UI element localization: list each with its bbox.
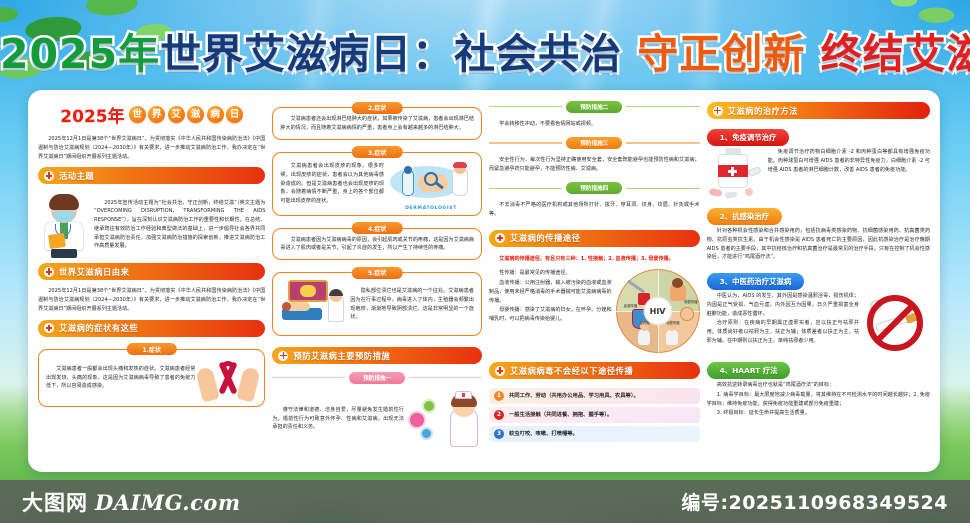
year-label: 2025年 xyxy=(60,102,124,127)
prevention-measure-2-label: 预防措施二 xyxy=(566,101,622,113)
treatment-4-text-1: 高效抗逆转录病毒治疗也就是“鸡尾酒疗法”的目标： xyxy=(707,381,930,390)
treatment-1-header: 1、免疫调节治疗 xyxy=(707,129,790,146)
treatment-2-block: 2、抗感染治疗 针对各种机会性感染和合并感染用药，包括抗病毒类感染药物、抗细菌感… xyxy=(707,203,930,263)
symptom-5-row: 隐私部位溃烂也是艾滋病的一个征兆。艾滋病患者因为在行事过程中，病毒进入了体内，生… xyxy=(280,280,474,330)
symptom-1-row: 艾滋病患者一般都会出现头痛和发热的症状。艾滋病患者经常出现发烧、头痛的现象，这是… xyxy=(46,357,257,401)
prevention-measure-4-text: 不去消毒不严格的医疗机构或其他场所打针、拔牙、穿耳洞、纹身、纹眉、针灸或手术等。 xyxy=(489,201,700,219)
wheel-tag-3: 母婴传播 xyxy=(666,320,680,325)
watermark-domain: DAIMG.com xyxy=(95,490,241,515)
section-header-treatment: 艾滋病的治疗方法 xyxy=(707,102,930,119)
gynecology-exam-illustration-icon xyxy=(280,280,346,330)
treatment-3-text-1: 中医认为，AIDS 的发生，其外因是感染温邪淫毒，损伤机体；内因是正气受损、气血… xyxy=(707,292,859,318)
chip-3: 滋 xyxy=(187,106,204,123)
watermark-code: 编号:2025110968349524 xyxy=(681,488,948,515)
world-aids-day-chips: 世 界 艾 滋 病 日 xyxy=(129,106,244,123)
section-title-routes: 艾滋病的传播途径 xyxy=(510,232,580,244)
treatment-1-block: 1、免疫调节治疗 免疫调节治疗药物白细胞介素 -2 和丙种蛋白等都具有增强免疫功… xyxy=(707,124,930,198)
chip-4: 病 xyxy=(207,106,224,123)
column-transmission: 预防措施二 学会转移性冲动，不要看色情网站或视频。 预防措施三 安全性行为，每次… xyxy=(489,98,700,464)
section-title-not-routes: 艾滋病病毒不会经以下途径传播 xyxy=(510,365,633,377)
year-heading: 2025年 世 界 艾 滋 病 日 xyxy=(38,98,265,130)
list-item: 2 一般生活接触（共同进餐、拥抱、握手等）。 xyxy=(489,407,700,423)
origin-paragraph: 2025年12月1日是第38个“世界艾滋病日”。为贯彻落实《中华人民共和国传染病… xyxy=(38,287,265,314)
divider-line-left xyxy=(489,106,562,107)
chip-5: 日 xyxy=(226,106,243,123)
section-header-activity-theme: 活动主题 xyxy=(38,167,265,184)
symptom-1-text: 艾滋病患者一般都会出现头痛和发热的症状。艾滋病患者经常出现发烧、头痛的现象，这是… xyxy=(46,365,195,391)
symptom-5-tab: 5.症状 xyxy=(352,267,402,279)
transmission-wheel-illustration: 血液传播 母婴传播 性传播 母婴传播 HIV xyxy=(616,269,700,353)
treatment-4-text-wrap: 高效抗逆转录病毒治疗也就是“鸡尾酒疗法”的目标： 1. 病毒学目标：最大限度地减… xyxy=(707,381,930,418)
routes-lead-wrap: 艾滋病的传播途径，有且只有三种：1. 性接触；2. 血液传播；3. 母婴传播。 xyxy=(489,255,700,265)
origin-text: 2025年12月1日是第38个“世界艾滋病日”。为贯彻落实《中华人民共和国传染病… xyxy=(38,287,265,313)
prevention-measure-2-header: 预防措施二 xyxy=(489,101,700,113)
column-treatment: 艾滋病的治疗方法 1、免疫调节治疗 免疫调节治疗药物白细胞介素 -2 和丙种蛋白… xyxy=(707,98,930,464)
symptom-4-text-wrap: 艾滋病患者因为艾滋病病毒的原因，会引起肌肉或关节的疼痛，这是因为艾滋病病毒进入了… xyxy=(280,236,474,254)
routes-detail-row: 性传播：是最常见的传播途径。 血液传播：公用注射器，输入被污染的血液或血液制品，… xyxy=(489,269,700,353)
intro-text: 2025年12月1日是第38个“世界艾滋病日”。为贯彻落实《中华人民共和国传染病… xyxy=(38,135,265,161)
wheel-hub-label: HIV xyxy=(645,298,671,324)
watermark-brand: 大图网 DAIMG.com xyxy=(22,487,241,517)
treatment-1-text-wrap: 免疫调节治疗药物白细胞介素 -2 和丙种蛋白等都具有增强免疫功能。丙种球蛋白可增… xyxy=(768,148,930,175)
prevention-measure-3-text-wrap: 安全性行为，每次性行为坚持正确使用安全套，安全套既能避孕也能预防性病和艾滋病；而… xyxy=(489,156,700,175)
treatment-3-text-wrap: 中医认为，AIDS 的发生，其外因是感染温邪淫毒，损伤机体；内因是正气受损、气血… xyxy=(707,292,859,347)
route-mtct-text: 母婴传播：感染了艾滋病的妇女，在怀孕、分娩和哺乳时，可以把病毒传染给婴儿。 xyxy=(489,306,612,324)
treatment-1-row: 免疫调节治疗药物白细胞介素 -2 和丙种蛋白等都具有增强免疫功能。丙种球蛋白可增… xyxy=(707,148,930,198)
section-header-symptoms: 艾滋病的症状有这些 xyxy=(38,320,265,337)
watermark-chinese: 大图网 xyxy=(22,487,88,517)
treatment-2-header: 2、抗感染治疗 xyxy=(707,208,783,225)
divider-line-left xyxy=(489,142,562,143)
symptom-2-tab: 2.症状 xyxy=(352,102,402,114)
section-title-origin: 世界艾滋病日由来 xyxy=(59,266,129,278)
title-part-theme3: 终结艾滋 xyxy=(821,20,970,80)
symptom-4-text: 艾滋病患者因为艾滋病病毒的原因，会引起肌肉或关节的疼痛，这是因为艾滋病病毒进入了… xyxy=(280,236,474,254)
dermatologist-label: DERMATOLOGIST xyxy=(388,206,474,211)
medicine-bottle-icon xyxy=(707,148,763,198)
prevention-measure-1-header: 预防措施一 xyxy=(272,372,482,384)
treatment-4-block: 4、HAART 疗法 高效抗逆转录病毒治疗也就是“鸡尾酒疗法”的目标： 1. 病… xyxy=(707,357,930,419)
dermatologist-illustration-icon: DERMATOLOGIST xyxy=(388,160,474,210)
prevention-measure-3-header: 预防措施三 xyxy=(489,137,700,149)
symptom-1-tab: 1.症状 xyxy=(126,343,176,355)
theme-text: 2025年宣传活动主题为“社会共治，守正创新，终结艾滋”（英文主题为“OVERC… xyxy=(94,199,265,252)
symptom-3-text: 艾滋病患者会出现皮疹的现象。很多时候，出现皮疹的症状，患者会以为其他病毒感染造成… xyxy=(280,162,384,206)
symptom-3-text-wrap: 艾滋病患者会出现皮疹的现象。很多时候，出现皮疹的症状，患者会以为其他病毒感染造成… xyxy=(280,162,384,207)
not-route-text-1: 共同工作、劳动（共用办公用品、学习用具、农具等）。 xyxy=(509,392,639,401)
theme-text-wrap: 2025年宣传活动主题为“社会共治，守正创新，终结艾滋”（英文主题为“OVERC… xyxy=(94,199,265,253)
prevention-measure-1-text-wrap: 遵守法律和道德、洁身自爱，尽量避免发生婚前性行为。婚前性行为可致意外怀孕、性病和… xyxy=(272,406,404,433)
wheel-tag-0: 血液传播 xyxy=(624,303,638,308)
symptom-5-text-wrap: 隐私部位溃烂也是艾滋病的一个征兆。艾滋病患者因为在行事过程中，病毒进入了体内，生… xyxy=(350,287,474,323)
chip-0: 世 xyxy=(129,106,146,123)
treatment-3-header: 3、中医药治疗艾滋病 xyxy=(707,273,805,290)
list-number-1: 1 xyxy=(494,391,504,401)
treatment-2-text: 针对各种机会性感染和合并感染用药，包括抗病毒类感染药物、抗细菌感染用药、抗真菌类… xyxy=(707,227,930,262)
prevention-measure-4-header: 预防措施四 xyxy=(489,182,700,194)
treatment-1-text: 免疫调节治疗药物白细胞介素 -2 和丙种蛋白等都具有增强免疫功能。丙种球蛋白可增… xyxy=(768,148,930,174)
red-cross-icon xyxy=(44,171,54,181)
treatment-3-row: 中医认为，AIDS 的发生，其外因是感染温邪淫毒，损伤机体；内因是正气受损、气血… xyxy=(707,292,930,352)
symptom-2-text: 艾滋病患者还会出现淋巴结肿大的症状，如果被传染了艾滋病，患者会出现淋巴结肿大的情… xyxy=(280,115,474,133)
section-title-treatment: 艾滋病的治疗方法 xyxy=(728,105,798,117)
treatment-2-text-wrap: 针对各种机会性感染和合并感染用药，包括抗病毒类感染药物、抗细菌感染用药、抗真菌类… xyxy=(707,227,930,262)
divider-line-left xyxy=(489,188,562,189)
list-item: 3 蚊虫叮咬、咳嗽、打喷嚏等。 xyxy=(489,426,700,442)
symptom-3-row: 艾滋病患者会出现皮疹的现象。很多时候，出现皮疹的症状，患者会以为其他病毒感染造成… xyxy=(280,160,474,210)
title-part-theme2: 守正创新 xyxy=(637,20,805,80)
prevention-measure-3-text: 安全性行为，每次性行为坚持正确使用安全套，安全套既能避孕也能预防性病和艾滋病；而… xyxy=(489,156,700,174)
symptom-2-text-wrap: 艾滋病患者还会出现淋巴结肿大的症状，如果被传染了艾滋病，患者会出现淋巴结肿大的情… xyxy=(280,115,474,133)
symptom-card-1: 1.症状 艾滋病患者一般都会出现头痛和发热的症状。艾滋病患者经常出现发烧、头痛的… xyxy=(38,349,265,407)
prevention-measure-1-label: 预防措施一 xyxy=(349,372,405,384)
list-number-3: 3 xyxy=(494,429,504,439)
treatment-3-block: 3、中医药治疗艾滋病 中医认为，AIDS 的发生，其外因是感染温邪淫毒，损伤机体… xyxy=(707,268,930,352)
watermark-footer: 大图网 DAIMG.com 编号:2025110968349524 xyxy=(0,480,970,523)
section-title-prevention: 预防艾滋病主要预防措施 xyxy=(293,350,390,362)
content-panel: 2025年 世 界 艾 滋 病 日 2025年12月1日是第38个“世界艾滋病日… xyxy=(28,90,940,472)
red-cross-icon xyxy=(44,323,54,333)
wheel-tag-1: 母婴传播 xyxy=(684,299,698,304)
prevention-measure-2-text: 学会转移性冲动，不要看色情网站或视频。 xyxy=(489,120,700,129)
red-cross-icon xyxy=(278,351,288,361)
intro-paragraph: 2025年12月1日是第38个“世界艾滋病日”。为贯彻落实《中华人民共和国传染病… xyxy=(38,135,265,162)
no-smoking-icon xyxy=(864,292,930,352)
red-cross-icon xyxy=(495,233,505,243)
divider-line-right xyxy=(626,106,699,107)
not-route-text-2: 一般生活接触（共同进餐、拥抱、握手等）。 xyxy=(509,411,612,420)
list-item: 1 共同工作、劳动（共用办公用品、学习用具、农具等）。 xyxy=(489,388,700,404)
red-cross-icon xyxy=(44,267,54,277)
not-transmitted-list: 1 共同工作、劳动（共用办公用品、学习用具、农具等）。 2 一般生活接触（共同进… xyxy=(489,388,700,442)
prevention-measure-1-row: 遵守法律和道德、洁身自爱，尽量避免发生婚前性行为。婚前性行为可致意外怀孕、性病和… xyxy=(272,391,482,449)
section-header-origin: 世界艾滋病日由来 xyxy=(38,263,265,280)
title-part-theme1: 社会共治 xyxy=(454,20,622,80)
divider-line-left xyxy=(272,377,345,378)
title-part-year: 2025年 xyxy=(0,20,160,80)
symptom-5-text: 隐私部位溃烂也是艾滋病的一个征兆。艾滋病患者因为在行事过程中，病毒进入了体内，生… xyxy=(350,287,474,322)
symptom-card-5: 5.症状 隐私部位溃烂也是艾滋病的一个征兆。艾滋病患者因为在行事过程中，病毒进入… xyxy=(272,272,482,336)
divider-line-right xyxy=(626,142,699,143)
section-title-activity-theme: 活动主题 xyxy=(59,170,94,182)
chip-1: 界 xyxy=(148,106,165,123)
prevention-measure-1-text: 遵守法律和道德、洁身自爱，尽量避免发生婚前性行为。婚前性行为可致意外怀孕、性病和… xyxy=(272,406,404,432)
prevention-measure-3-label: 预防措施三 xyxy=(566,137,622,149)
poster-title-area: 2025年世界艾滋病日：社会共治 守正创新 终结艾滋 xyxy=(0,20,970,80)
route-sexual-text: 性传播：是最常见的传播途径。 xyxy=(489,269,612,278)
section-title-symptoms: 艾滋病的症状有这些 xyxy=(59,322,138,334)
red-cross-icon xyxy=(713,106,723,116)
section-header-routes: 艾滋病的传播途径 xyxy=(489,230,700,247)
section-header-prevention: 预防艾滋病主要预防措施 xyxy=(272,347,482,364)
prevention-measure-4-text-wrap: 不去消毒不严格的医疗机构或其他场所打针、拔牙、穿耳洞、纹身、纹眉、针灸或手术等。 xyxy=(489,201,700,220)
divider-line-right xyxy=(626,188,699,189)
symptom-card-3: 3.症状 艾滋病患者会出现皮疹的现象。很多时候，出现皮疹的症状，患者会以为其他病… xyxy=(272,152,482,216)
nurse-virus-illustration-icon xyxy=(408,391,482,449)
not-route-text-3: 蚊虫叮咬、咳嗽、打喷嚏等。 xyxy=(509,430,578,439)
doctor-illustration-icon xyxy=(38,192,90,258)
column-overview: 2025年 世 界 艾 滋 病 日 2025年12月1日是第38个“世界艾滋病日… xyxy=(38,98,265,464)
routes-detail-text-wrap: 性传播：是最常见的传播途径。 血液传播：公用注射器，输入被污染的血液或血液制品，… xyxy=(489,269,612,325)
symptom-card-2: 2.症状 艾滋病患者还会出现淋巴结肿大的症状，如果被传染了艾滋病，患者会出现淋巴… xyxy=(272,107,482,140)
poster-title: 2025年世界艾滋病日：社会共治 守正创新 终结艾滋 xyxy=(0,20,970,80)
title-part-wad: 世界艾滋病日： xyxy=(160,20,454,80)
red-cross-icon xyxy=(495,366,505,376)
divider-line-right xyxy=(409,377,482,378)
section-header-not-routes: 艾滋病病毒不会经以下途径传播 xyxy=(489,362,700,379)
symptom-card-4: 4.症状 艾滋病患者因为艾滋病病毒的原因，会引起肌肉或关节的疼痛，这是因为艾滋病… xyxy=(272,228,482,261)
treatment-3-text-2: 治疗原则：在疾病的早期属正虚邪实者，应以扶正与祛邪并用。体质尚好者以祛邪为主，扶… xyxy=(707,319,859,345)
prevention-measure-4-label: 预防措施四 xyxy=(566,182,622,194)
symptom-1-text-wrap: 艾滋病患者一般都会出现头痛和发热的症状。艾滋病患者经常出现发烧、头痛的现象，这是… xyxy=(46,365,195,392)
prevention-measure-2-text-wrap: 学会转移性冲动，不要看色情网站或视频。 xyxy=(489,120,700,130)
column-symptoms: 2.症状 艾滋病患者还会出现淋巴结肿大的症状，如果被传染了艾滋病，患者会出现淋巴… xyxy=(272,98,482,464)
route-blood-text: 血液传播：公用注射器，输入被污染的血液或血液制品，使用未经严格消毒的手术器械可能… xyxy=(489,279,612,305)
red-ribbon-hands-icon xyxy=(199,357,257,401)
list-number-2: 2 xyxy=(494,410,504,420)
theme-block: 2025年宣传活动主题为“社会共治，守正创新，终结艾滋”（英文主题为“OVERC… xyxy=(38,192,265,258)
treatment-4-text-2: 1. 病毒学目标：最大限度地减少病毒载量，将其维持在不可检测水平的时间越长越好；… xyxy=(707,391,930,409)
chip-2: 艾 xyxy=(168,106,185,123)
treatment-4-text-3: 3. 终极目标：延长生命并提高生活质量。 xyxy=(707,409,930,418)
symptom-3-tab: 3.症状 xyxy=(352,146,402,158)
routes-lead-text: 艾滋病的传播途径，有且只有三种：1. 性接触；2. 血液传播；3. 母婴传播。 xyxy=(489,255,700,264)
symptom-4-tab: 4.症状 xyxy=(352,222,402,234)
treatment-4-header: 4、HAART 疗法 xyxy=(707,362,791,379)
